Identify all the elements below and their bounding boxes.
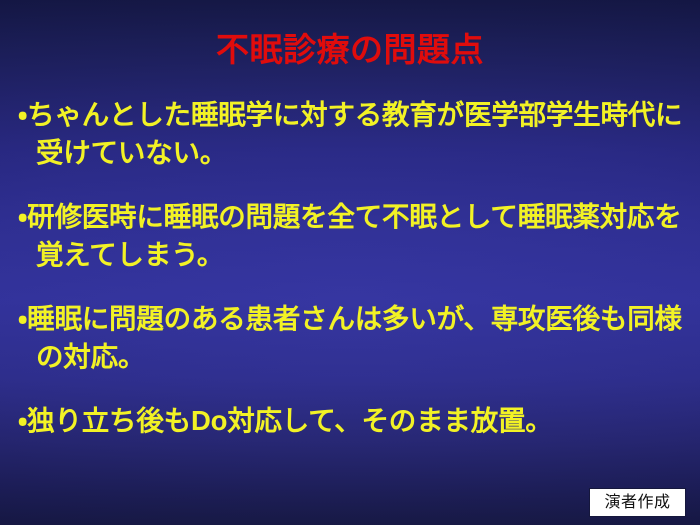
- bullet-item-3-text: ・睡眠に問題のある患者さんは多いが、専攻医後も同様の対応。: [18, 303, 682, 372]
- presentation-slide: 不眠診療の問題点 ・ちゃんとした睡眠学に対する教育が医学部学生時代に受けていない…: [0, 0, 700, 525]
- slide-title: 不眠診療の問題点: [0, 30, 700, 70]
- bullet-item-2-text: ・研修医時に睡眠の問題を全て不眠として睡眠薬対応を覚えてしまう。: [18, 201, 682, 270]
- bullet-item-3: ・睡眠に問題のある患者さんは多いが、専攻医後も同様の対応。: [18, 300, 686, 376]
- source-credit-label: 演者作成: [604, 494, 670, 512]
- bullet-item-2: ・研修医時に睡眠の問題を全て不眠として睡眠薬対応を覚えてしまう。: [18, 198, 686, 274]
- bullet-item-4-text: ・独り立ち後もDo対応して、そのまま放置。: [18, 405, 553, 436]
- bullet-item-1: ・ちゃんとした睡眠学に対する教育が医学部学生時代に受けていない。: [18, 96, 686, 172]
- bullet-item-4: ・独り立ち後もDo対応して、そのまま放置。: [18, 402, 686, 440]
- bullet-item-1-text: ・ちゃんとした睡眠学に対する教育が医学部学生時代に受けていない。: [18, 99, 682, 168]
- source-credit-box: 演者作成: [589, 488, 686, 517]
- bullet-list: ・ちゃんとした睡眠学に対する教育が医学部学生時代に受けていない。 ・研修医時に睡…: [18, 96, 686, 440]
